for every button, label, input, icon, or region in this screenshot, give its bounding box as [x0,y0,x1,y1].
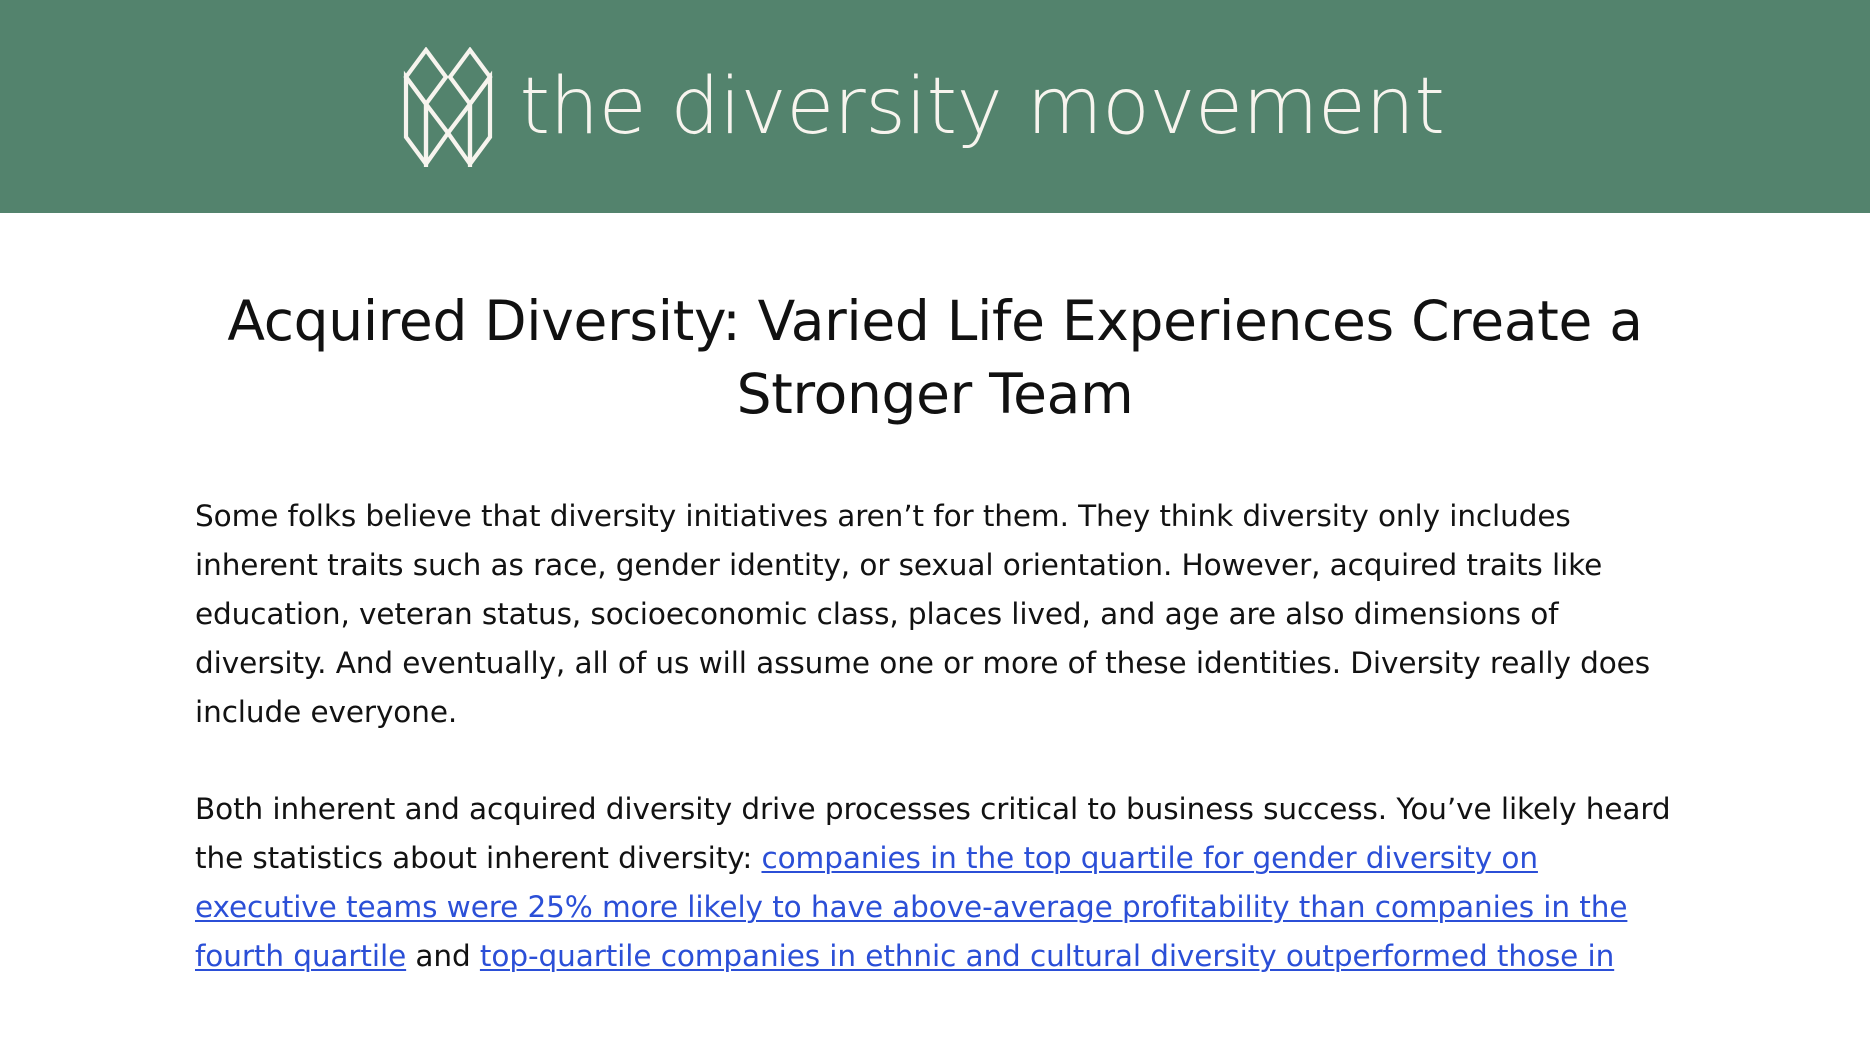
article-container: Acquired Diversity: Varied Life Experien… [0,213,1870,981]
site-header: the diversity movement [0,0,1870,213]
brand-wordmark: the diversity movement [520,68,1445,146]
brand-logo[interactable]: the diversity movement [402,47,1445,167]
paragraph-text: Some folks believe that diversity initia… [195,499,1650,729]
article-body: Some folks believe that diversity initia… [195,492,1675,981]
body-paragraph: Some folks believe that diversity initia… [195,492,1675,737]
diversity-movement-monogram-icon [402,47,494,167]
body-paragraph: Both inherent and acquired diversity dri… [195,785,1675,981]
paragraph-text: and [406,939,480,973]
inline-link[interactable]: top-quartile companies in ethnic and cul… [480,939,1614,973]
page-title: Acquired Diversity: Varied Life Experien… [195,285,1675,430]
